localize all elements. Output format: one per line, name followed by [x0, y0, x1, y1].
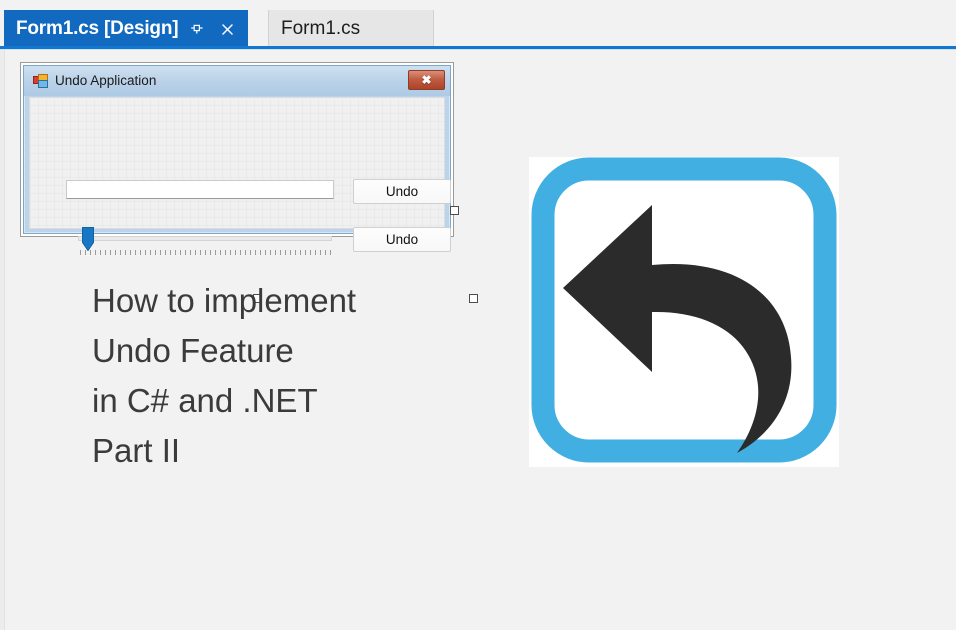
page-title: How to implement Undo Feature in C# and …: [92, 276, 492, 476]
form-close-button[interactable]: ✖: [408, 70, 445, 90]
form-application-icon: [33, 74, 49, 88]
trackbar-thumb[interactable]: [82, 227, 94, 251]
undo-arrow-icon: [529, 157, 839, 467]
form-titlebar: Undo Application ✖: [24, 66, 450, 96]
heading-line-4: Part II: [92, 426, 492, 476]
tab-form1-design-label: Form1.cs [Design]: [16, 18, 178, 40]
undo-trackbar-button[interactable]: Undo: [353, 227, 451, 252]
form-designer-selection[interactable]: Undo Application ✖ Undo Undo: [20, 62, 454, 237]
form-client-area[interactable]: [29, 97, 445, 229]
heading-line-3: in C# and .NET: [92, 376, 492, 426]
editor-tab-strip: Form1.cs [Design] Form1.cs: [0, 0, 956, 48]
trackbar-ticks: [80, 250, 332, 255]
undo-textbox[interactable]: [66, 180, 334, 199]
undo-text-button[interactable]: Undo: [353, 179, 451, 204]
tab-form1-design[interactable]: Form1.cs [Design]: [4, 10, 248, 48]
heading-line-1: How to implement: [92, 276, 492, 326]
heading-line-2: Undo Feature: [92, 326, 492, 376]
tab-form1-code-label: Form1.cs: [281, 18, 360, 40]
selection-handle-right-middle[interactable]: [450, 206, 459, 215]
undo-trackbar[interactable]: [75, 222, 333, 258]
tab-form1-code[interactable]: Form1.cs: [268, 10, 434, 48]
trackbar-groove: [78, 236, 332, 241]
page-edge-strip: [0, 0, 5, 630]
form-title-text: Undo Application: [55, 74, 156, 88]
tab-strip-underline-soft: [0, 49, 956, 50]
designed-form-window[interactable]: Undo Application ✖: [23, 65, 451, 234]
close-icon[interactable]: [216, 18, 238, 40]
pin-icon[interactable]: [186, 18, 208, 40]
